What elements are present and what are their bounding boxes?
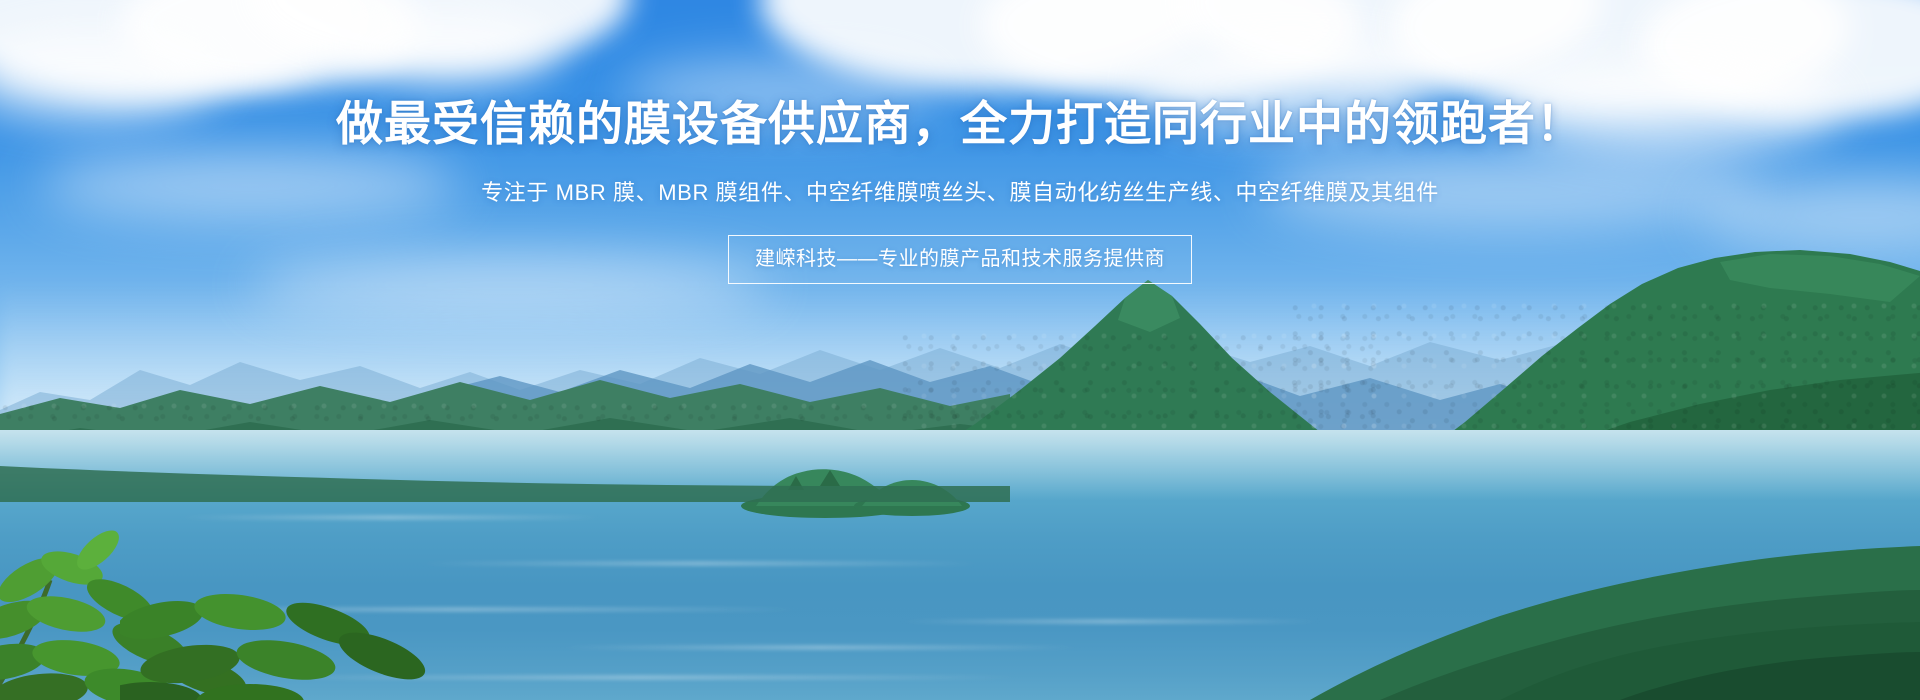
water-streak	[420, 562, 980, 565]
banner-tagline-wrap: 建嵘科技——专业的膜产品和技术服务提供商	[0, 235, 1920, 284]
right-bottom-foliage	[1500, 560, 1920, 700]
banner-headline: 做最受信赖的膜设备供应商，全力打造同行业中的领跑者！	[0, 98, 1920, 151]
water-streak	[560, 646, 1080, 649]
banner-content: 做最受信赖的膜设备供应商，全力打造同行业中的领跑者！ 专注于 MBR 膜、MBR…	[0, 0, 1920, 284]
hero-banner: 做最受信赖的膜设备供应商，全力打造同行业中的领跑者！ 专注于 MBR 膜、MBR…	[0, 0, 1920, 700]
banner-subtitle: 专注于 MBR 膜、MBR 膜组件、中空纤维膜喷丝头、膜自动化纺丝生产线、中空纤…	[0, 178, 1920, 209]
banner-tagline-box: 建嵘科技——专业的膜产品和技术服务提供商	[728, 235, 1192, 284]
foliage-lower	[120, 560, 460, 700]
